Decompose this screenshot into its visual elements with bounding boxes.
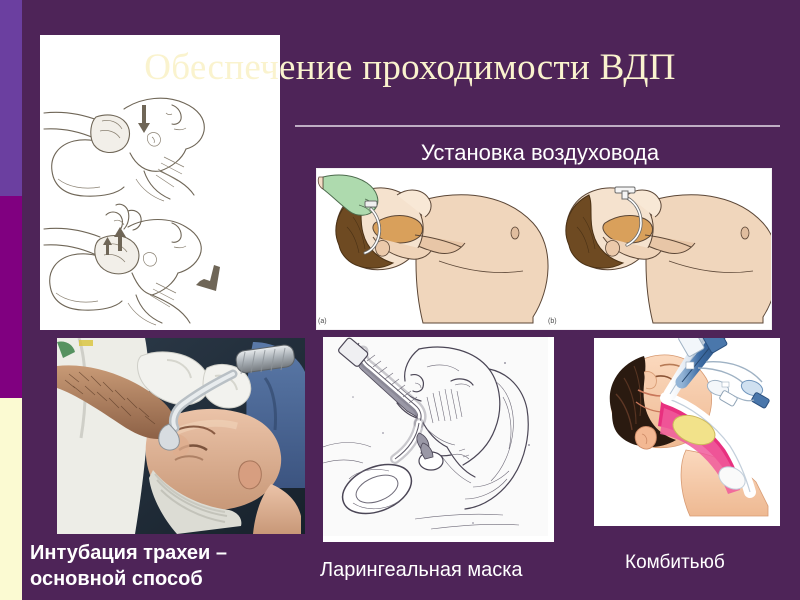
- intubation-photo-svg: [57, 338, 305, 534]
- caption-laryngeal-mask: Ларингеальная маска: [320, 556, 570, 584]
- caption-combitube: Комбитьюб: [625, 550, 785, 576]
- figure-oropharyngeal-airway-insertion: (a) (b): [316, 168, 772, 330]
- figure-combitube: [594, 338, 780, 526]
- panel-label-a: (a): [318, 318, 327, 325]
- combitube-svg: [594, 338, 780, 526]
- edge-segment-cream: [0, 398, 22, 600]
- laryngeal-mask-svg: [323, 337, 548, 536]
- panel-label-b: (b): [548, 318, 557, 325]
- edge-segment-violet: [0, 0, 22, 196]
- page-title: Обеспечение проходимости ВДП: [40, 46, 780, 90]
- figure-tracheal-intubation-photo: [57, 338, 305, 534]
- title-divider: [295, 125, 780, 127]
- figure-laryngeal-mask: [320, 334, 557, 545]
- slide-canvas: Обеспечение проходимости ВДП Установка в…: [0, 0, 800, 600]
- slide-subtitle: Установка воздуховода: [300, 139, 780, 167]
- left-decorative-bar: [0, 0, 22, 600]
- caption-intubation: Интубация трахеи – основной способ: [30, 540, 295, 592]
- edge-segment-magenta: [0, 196, 22, 398]
- airway-insertion-svg: (a) (b): [317, 169, 771, 329]
